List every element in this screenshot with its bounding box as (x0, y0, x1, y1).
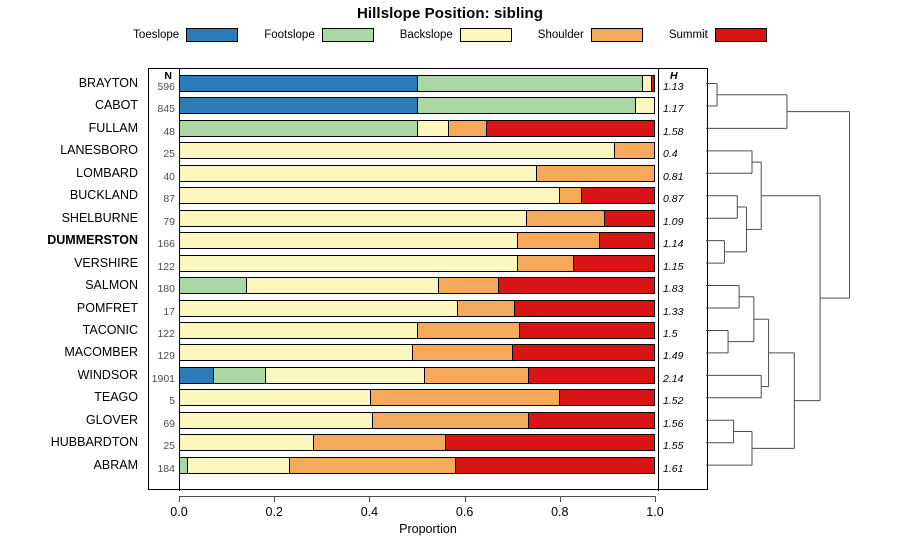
y-axis-label-fullam: FULLAM (89, 121, 138, 135)
h-value: 1.5 (663, 328, 678, 340)
n-value: 845 (157, 103, 175, 115)
bar-segment-shoulder[interactable] (412, 345, 512, 360)
bar-segment-shoulder[interactable] (372, 413, 528, 428)
dendrogram-svg (700, 68, 900, 490)
bar-segment-summit[interactable] (528, 368, 654, 383)
legend-swatch (591, 28, 643, 42)
y-axis-label-hubbardton: HUBBARDTON (51, 435, 138, 449)
bar-row[interactable] (179, 165, 655, 182)
bar-segment-summit[interactable] (519, 323, 654, 338)
bar-segment-backslope[interactable] (180, 413, 372, 428)
bar-segment-shoulder[interactable] (526, 211, 604, 226)
bar-segment-summit[interactable] (486, 121, 654, 136)
n-value: 40 (163, 171, 175, 183)
h-value: 1.13 (663, 81, 683, 93)
h-value: 1.09 (663, 216, 683, 228)
y-axis-label-taconic: TACONIC (83, 323, 138, 337)
bar-segment-summit[interactable] (581, 188, 654, 203)
bar-segment-footslope[interactable] (417, 98, 635, 113)
h-value: 1.52 (663, 395, 683, 407)
bar-segment-summit[interactable] (512, 345, 654, 360)
bar-row[interactable] (179, 210, 655, 227)
h-value: 1.17 (663, 103, 683, 115)
legend-swatch (322, 28, 374, 42)
bar-row[interactable] (179, 75, 655, 92)
y-axis-label-buckland: BUCKLAND (70, 188, 138, 202)
y-axis-label-lanesboro: LANESBORO (60, 143, 138, 157)
n-value: 122 (157, 328, 175, 340)
n-value: 596 (157, 81, 175, 93)
bar-segment-backslope[interactable] (180, 345, 412, 360)
bar-segment-backslope[interactable] (180, 143, 614, 158)
x-axis-tick (560, 496, 561, 502)
n-value: 129 (157, 350, 175, 362)
bar-segment-backslope[interactable] (180, 435, 313, 450)
bar-segment-shoulder[interactable] (424, 368, 528, 383)
x-axis-line (179, 496, 655, 497)
bar-segment-summit[interactable] (559, 390, 654, 405)
n-value: 17 (163, 306, 175, 318)
bar-row[interactable] (179, 232, 655, 249)
n-value: 5 (169, 395, 175, 407)
n-value: 1901 (152, 373, 175, 385)
h-value: 0.81 (663, 171, 683, 183)
bar-segment-backslope[interactable] (635, 98, 654, 113)
legend-swatch (460, 28, 512, 42)
y-axis-label-dummerston: DUMMERSTON (47, 233, 138, 247)
h-value: 1.15 (663, 261, 683, 273)
bar-segment-summit[interactable] (604, 211, 654, 226)
n-value: 25 (163, 440, 175, 452)
bar-segment-shoulder[interactable] (517, 233, 600, 248)
y-axis-label-teago: TEAGO (94, 390, 138, 404)
x-axis-tick (655, 496, 656, 502)
bar-row[interactable] (179, 255, 655, 272)
bar-segment-backslope[interactable] (417, 121, 448, 136)
legend-swatch (186, 28, 238, 42)
bar-segment-summit[interactable] (528, 413, 654, 428)
legend-label: Toeslope (133, 29, 179, 41)
bar-segment-footslope[interactable] (213, 368, 265, 383)
chart-root: Hillslope Position: sibling ToeslopeFoot… (0, 0, 900, 560)
n-value: 25 (163, 148, 175, 160)
legend-item-footslope: Footslope (264, 28, 374, 42)
legend-item-backslope: Backslope (400, 28, 512, 42)
bar-segment-toeslope[interactable] (180, 368, 213, 383)
page-title: Hillslope Position: sibling (0, 5, 900, 22)
legend-label: Shoulder (538, 29, 584, 41)
y-axis-label-shelburne: SHELBURNE (62, 211, 138, 225)
h-value: 1.33 (663, 306, 683, 318)
bar-row[interactable] (179, 434, 655, 451)
bar-segment-summit[interactable] (514, 301, 654, 316)
n-value: 87 (163, 193, 175, 205)
dendrogram (700, 68, 900, 490)
y-axis-label-salmon: SALMON (85, 278, 138, 292)
bar-segment-footslope[interactable] (180, 458, 187, 473)
bar-segment-backslope[interactable] (246, 278, 438, 293)
bar-segment-shoulder[interactable] (417, 323, 519, 338)
bar-segment-summit[interactable] (445, 435, 654, 450)
y-axis-label-glover: GLOVER (86, 413, 138, 427)
h-value: 2.14 (663, 373, 683, 385)
h-value: 0.87 (663, 193, 683, 205)
n-value: 69 (163, 418, 175, 430)
x-axis-tick-label: 0.8 (551, 505, 568, 519)
n-value: 166 (157, 238, 175, 250)
y-axis-label-windsor: WINDSOR (78, 368, 138, 382)
legend: ToeslopeFootslopeBackslopeShoulderSummit (0, 25, 900, 45)
bar-segment-backslope[interactable] (180, 211, 526, 226)
bar-row[interactable] (179, 97, 655, 114)
x-axis-tick-label: 0.6 (456, 505, 473, 519)
bar-segment-shoulder[interactable] (614, 143, 654, 158)
y-axis-label-vershire: VERSHIRE (74, 256, 138, 270)
x-axis-title: Proportion (148, 522, 708, 536)
bar-segment-shoulder[interactable] (438, 278, 497, 293)
bar-segment-footslope[interactable] (180, 278, 246, 293)
bar-segment-backslope[interactable] (180, 390, 370, 405)
x-axis-tick-label: 0.4 (361, 505, 378, 519)
bar-segment-backslope[interactable] (180, 188, 559, 203)
bar-segment-backslope[interactable] (642, 76, 651, 91)
legend-label: Footslope (264, 29, 315, 41)
bar-segment-backslope[interactable] (180, 323, 417, 338)
legend-label: Summit (669, 29, 708, 41)
bar-segment-summit[interactable] (455, 458, 654, 473)
stacked-bars (179, 68, 655, 490)
y-axis-label-lombard: LOMBARD (76, 166, 138, 180)
legend-item-toeslope: Toeslope (133, 28, 238, 42)
y-axis-label-brayton: BRAYTON (79, 76, 138, 90)
bar-row[interactable] (179, 277, 655, 294)
x-axis-tick (274, 496, 275, 502)
bar-segment-shoulder[interactable] (289, 458, 455, 473)
bar-segment-shoulder[interactable] (457, 301, 514, 316)
y-axis-label-pomfret: POMFRET (77, 301, 138, 315)
bar-segment-toeslope[interactable] (180, 98, 417, 113)
bar-row[interactable] (179, 367, 655, 384)
bar-segment-summit[interactable] (573, 256, 654, 271)
bar-row[interactable] (179, 300, 655, 317)
y-axis-label-abram: ABRAM (94, 458, 138, 472)
legend-label: Backslope (400, 29, 453, 41)
bar-segment-footslope[interactable] (180, 121, 417, 136)
bar-row[interactable] (179, 389, 655, 406)
legend-item-shoulder: Shoulder (538, 28, 643, 42)
n-column: N 59684548254087791661221801712212919015… (148, 68, 178, 490)
x-axis-tick (465, 496, 466, 502)
n-value: 122 (157, 261, 175, 273)
bar-row[interactable] (179, 322, 655, 339)
n-value: 79 (163, 216, 175, 228)
x-axis-tick-label: 1.0 (646, 505, 663, 519)
bar-segment-backslope[interactable] (180, 233, 517, 248)
y-axis-label-macomber: MACOMBER (64, 345, 138, 359)
h-value: 1.49 (663, 350, 683, 362)
y-axis-labels: BRAYTONCABOTFULLAMLANESBOROLOMBARDBUCKLA… (0, 68, 146, 490)
x-axis-tick-label: 0.0 (170, 505, 187, 519)
h-value: 1.58 (663, 126, 683, 138)
bar-segment-footslope[interactable] (417, 76, 642, 91)
bar-row[interactable] (179, 187, 655, 204)
h-value: 0.4 (663, 148, 678, 160)
n-value: 184 (157, 463, 175, 475)
bar-segment-summit[interactable] (498, 278, 654, 293)
bar-segment-backslope[interactable] (187, 458, 289, 473)
bar-row[interactable] (179, 142, 655, 159)
legend-swatch (715, 28, 767, 42)
bar-segment-shoulder[interactable] (448, 121, 486, 136)
bar-segment-shoulder[interactable] (559, 188, 580, 203)
x-axis-tick (369, 496, 370, 502)
legend-item-summit: Summit (669, 28, 767, 42)
bar-row[interactable] (179, 412, 655, 429)
bar-segment-shoulder[interactable] (517, 256, 574, 271)
bar-row[interactable] (179, 344, 655, 361)
h-value: 1.83 (663, 283, 683, 295)
y-axis-label-cabot: CABOT (95, 98, 138, 112)
bar-segment-backslope[interactable] (180, 301, 457, 316)
h-value: 1.55 (663, 440, 683, 452)
bar-row[interactable] (179, 120, 655, 137)
bar-row[interactable] (179, 457, 655, 474)
bar-segment-backslope[interactable] (265, 368, 424, 383)
h-value: 1.61 (663, 463, 683, 475)
x-axis: 0.00.20.40.60.81.0 (148, 496, 708, 498)
bar-segment-shoulder[interactable] (536, 166, 655, 181)
h-value: 1.14 (663, 238, 683, 250)
n-value: 48 (163, 126, 175, 138)
x-axis-tick-label: 0.2 (265, 505, 282, 519)
n-value: 180 (157, 283, 175, 295)
bar-segment-backslope[interactable] (180, 256, 517, 271)
bar-segment-summit[interactable] (651, 76, 654, 91)
bar-segment-shoulder[interactable] (370, 390, 560, 405)
h-value: 1.56 (663, 418, 683, 430)
bar-segment-toeslope[interactable] (180, 76, 417, 91)
bar-segment-summit[interactable] (599, 233, 654, 248)
x-axis-tick (179, 496, 180, 502)
bar-segment-shoulder[interactable] (313, 435, 446, 450)
bar-segment-backslope[interactable] (180, 166, 536, 181)
